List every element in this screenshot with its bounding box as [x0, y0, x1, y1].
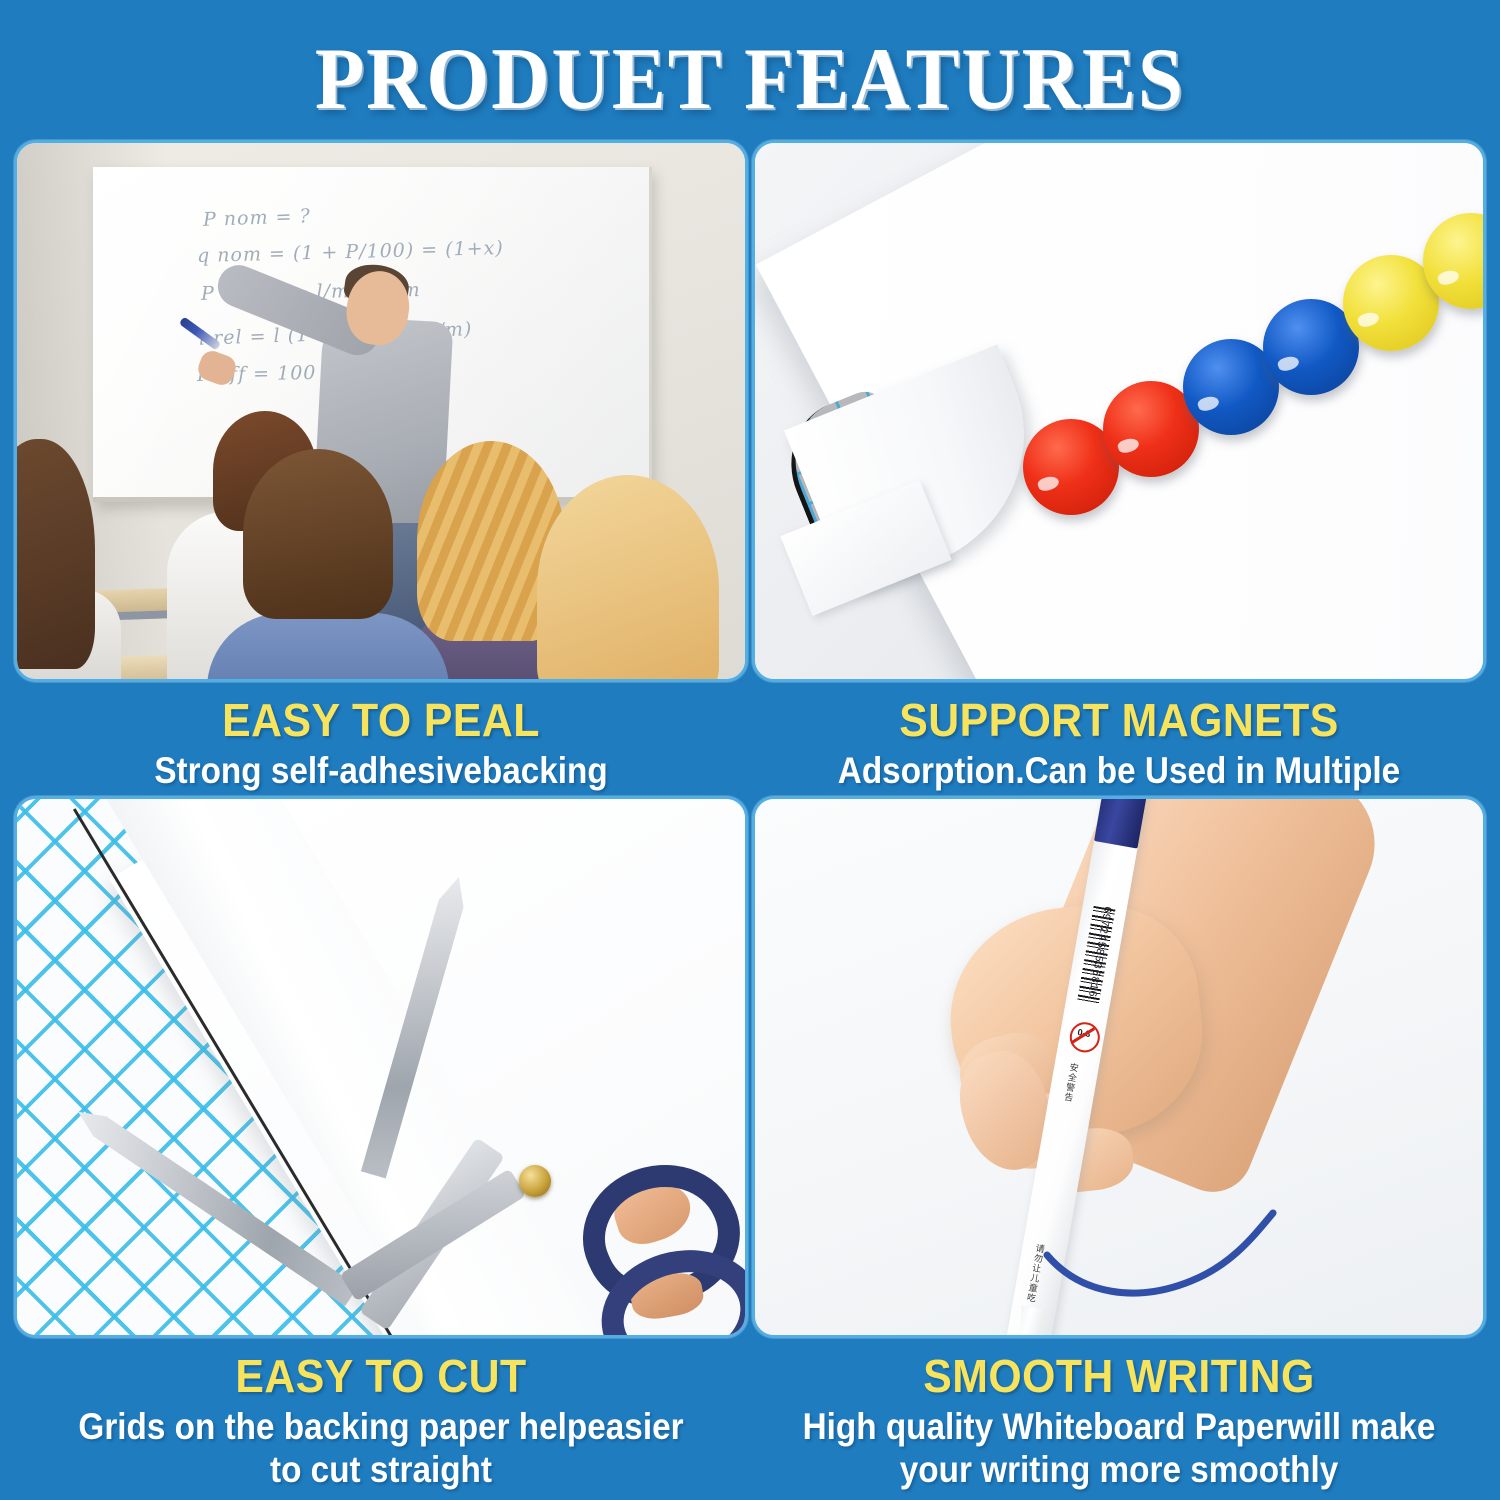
caption-easy-to-cut: EASY TO CUT Grids on the backing paper h…	[14, 1338, 748, 1491]
student-5-hair	[537, 475, 719, 679]
scissors-cutting-grid-backing-photo	[14, 796, 748, 1338]
age-warning-icon: 0-3	[1067, 1020, 1102, 1055]
ink-stroke	[1041, 1203, 1301, 1313]
caption-easy-to-peal: EASY TO PEAL Strong self-adhesivebacking	[14, 682, 748, 793]
feature-subtitle-easy-to-peal: Strong self-adhesivebacking	[51, 746, 712, 793]
feature-subtitle-easy-to-cut-line1: Grids on the backing paper helpeasier	[51, 1402, 712, 1449]
product-features-poster: PRODUET FEATURES P nom = ? q nom = (1 + …	[0, 0, 1500, 1500]
whiteboard-equation-1: P nom = ?	[203, 205, 311, 231]
marker-label-line-1: 安全警告	[1060, 1062, 1078, 1103]
feature-title-easy-to-peal: EASY TO PEAL	[40, 696, 723, 746]
feature-cell-smooth-writing: 6972458536816 0-3 安全警告 请勿让儿童吃	[752, 796, 1488, 1491]
feature-title-easy-to-cut: EASY TO CUT	[40, 1352, 723, 1402]
feature-subtitle-easy-to-cut-line2: to cut straight	[51, 1449, 712, 1492]
feature-subtitle-smooth-writing-line2: your writing more smoothly	[789, 1449, 1450, 1492]
classroom-teacher-whiteboard-photo: P nom = ? q nom = (1 + P/100) = (1+x) P …	[14, 140, 748, 682]
age-warning-label: 0-3	[1077, 1027, 1092, 1039]
features-grid: P nom = ? q nom = (1 + P/100) = (1+x) P …	[0, 140, 1500, 1500]
page-title: PRODUET FEATURES	[315, 36, 1185, 124]
magnets-on-whiteboard-sheet-photo	[752, 140, 1486, 682]
feature-subtitle-smooth-writing-line1: High quality Whiteboard Paperwill make	[789, 1402, 1450, 1449]
feature-cell-easy-to-cut: EASY TO CUT Grids on the backing paper h…	[14, 796, 750, 1491]
poster-title-bar: PRODUET FEATURES	[0, 36, 1500, 124]
caption-smooth-writing: SMOOTH WRITING High quality Whiteboard P…	[752, 1338, 1486, 1491]
feature-title-smooth-writing: SMOOTH WRITING	[778, 1352, 1461, 1402]
feature-cell-easy-to-peal: P nom = ? q nom = (1 + P/100) = (1+x) P …	[14, 140, 750, 793]
hand-writing-with-marker-photo: 6972458536816 0-3 安全警告 请勿让儿童吃	[752, 796, 1486, 1338]
feature-cell-support-magnets: SUPPORT MAGNETS Adsorption.Can be Used i…	[752, 140, 1488, 835]
scissors-pivot-screw	[519, 1165, 551, 1197]
student-3-hair	[243, 449, 393, 619]
feature-title-support-magnets: SUPPORT MAGNETS	[778, 696, 1461, 746]
